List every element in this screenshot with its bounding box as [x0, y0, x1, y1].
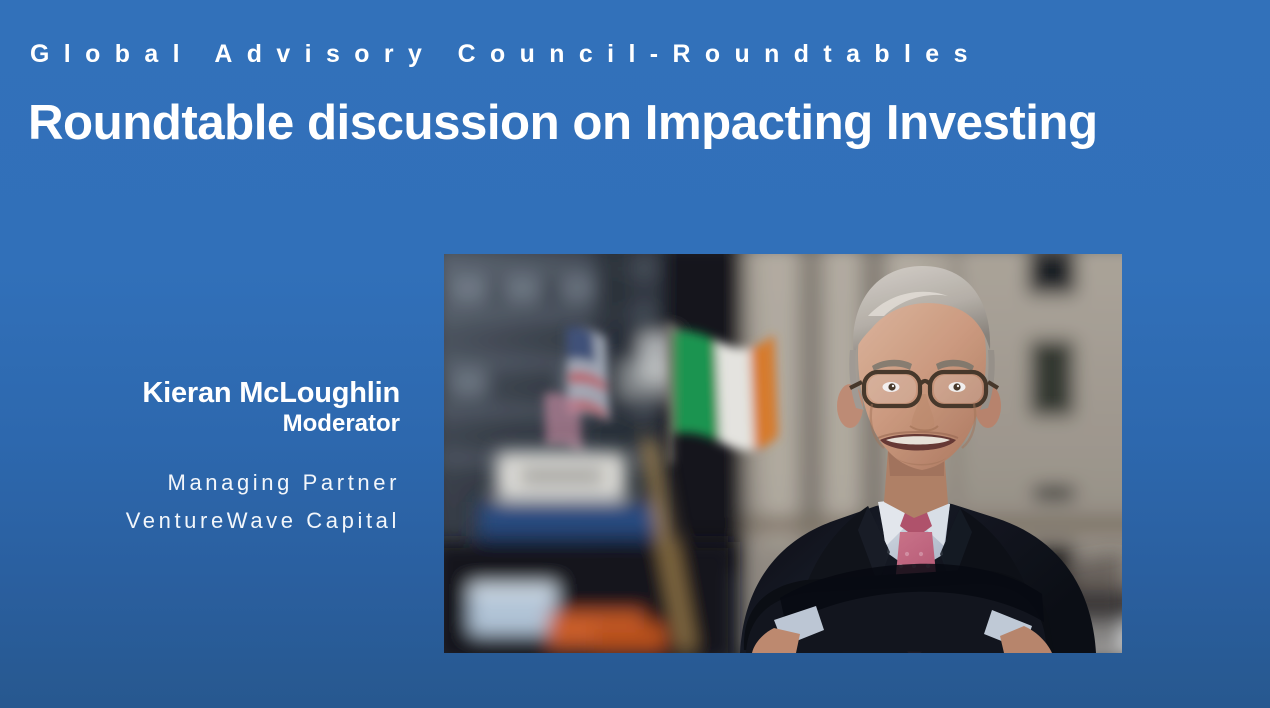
- presentation-slide: Global Advisory Council-Roundtables Roun…: [0, 0, 1270, 708]
- speaker-affiliation: Managing Partner VentureWave Capital: [0, 464, 400, 540]
- speaker-name: Kieran McLoughlin: [0, 378, 400, 409]
- speaker-job-title: Managing Partner: [0, 464, 400, 502]
- speaker-info: Kieran McLoughlin Moderator Managing Par…: [0, 378, 400, 540]
- slide-title: Roundtable discussion on Impacting Inves…: [28, 96, 1098, 151]
- speaker-photo: [444, 254, 1122, 653]
- speaker-photo-image: [444, 254, 1122, 653]
- slide-kicker: Global Advisory Council-Roundtables: [30, 42, 1229, 67]
- speaker-company: VentureWave Capital: [0, 502, 400, 540]
- speaker-role: Moderator: [0, 411, 400, 438]
